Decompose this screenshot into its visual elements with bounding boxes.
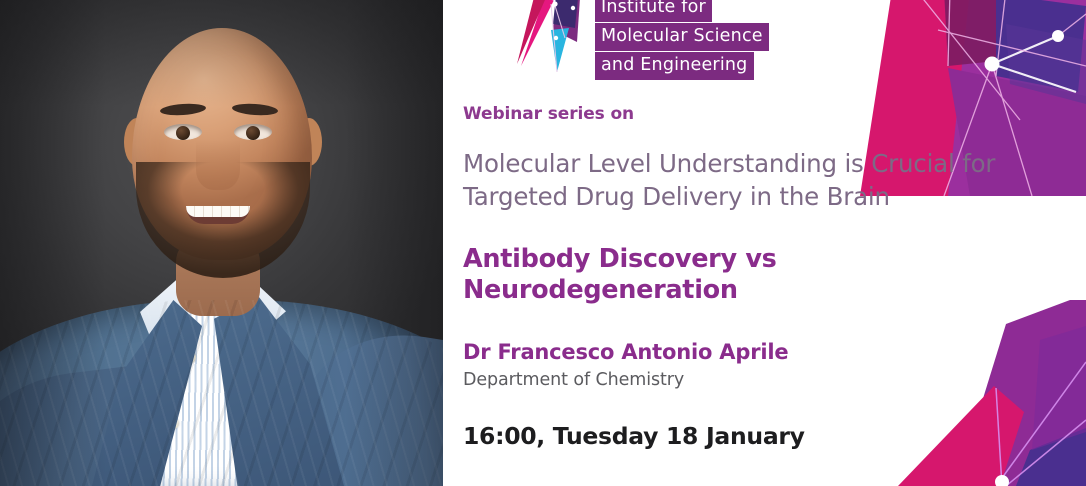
speaker-department: Department of Chemistry: [463, 370, 1063, 390]
speaker-name: Dr Francesco Antonio Aprile: [463, 340, 1063, 364]
event-datetime: 16:00, Tuesday 18 January: [463, 422, 1063, 450]
imse-logo-mark-icon: [499, 0, 591, 78]
event-text-block: Webinar series on Molecular Level Unders…: [463, 104, 1063, 450]
talk-title: Antibody Discovery vs Neurodegeneration: [463, 244, 883, 306]
imse-logo-wordmark: Institute for Molecular Science and Engi…: [595, 0, 769, 80]
logo-line-1: Institute for: [595, 0, 712, 22]
series-title: Molecular Level Understanding is Crucial…: [463, 148, 1003, 214]
logo-line-2: Molecular Science: [595, 23, 769, 51]
webinar-series-label: Webinar series on: [463, 104, 1063, 124]
content-panel: Institute for Molecular Science and Engi…: [443, 0, 1086, 486]
webinar-poster: Institute for Molecular Science and Engi…: [0, 0, 1086, 486]
imse-logo: Institute for Molecular Science and Engi…: [499, 0, 829, 78]
photo-vignette: [0, 0, 443, 486]
logo-line-3: and Engineering: [595, 52, 754, 80]
speaker-portrait-photo: [0, 0, 443, 486]
